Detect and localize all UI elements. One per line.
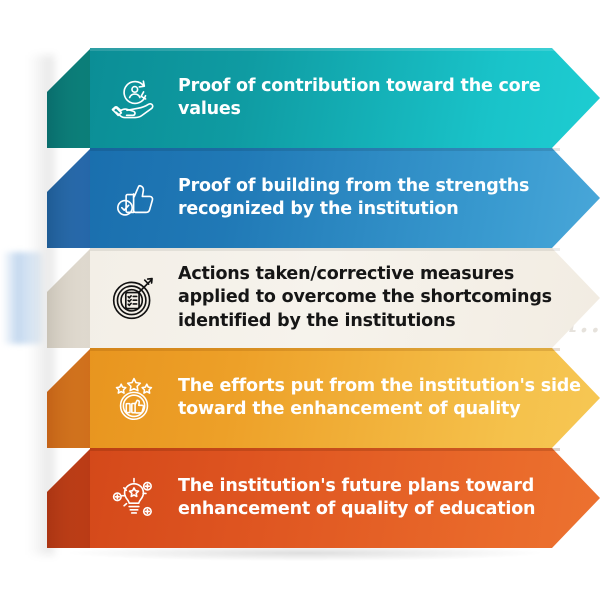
band-5-label: The institution's future plans toward en… — [178, 475, 600, 522]
band-2-label: Proof of building from the strengths rec… — [178, 175, 600, 222]
band-2-content: Proof of building from the strengths rec… — [90, 148, 600, 248]
thumbs-up-check-icon — [90, 148, 178, 248]
banner-band-1[interactable]: Proof of contribution toward the core va… — [47, 48, 600, 148]
band-3-label: Actions taken/corrective measures applie… — [178, 263, 600, 333]
band-1-content: Proof of contribution toward the core va… — [90, 48, 600, 148]
band-5-content: The institution's future plans toward en… — [90, 448, 600, 548]
band-1-3d-fold — [47, 48, 91, 148]
target-checklist-dart-icon — [90, 248, 178, 348]
thumbs-up-stars-medal-icon — [90, 348, 178, 448]
band-5-3d-fold — [47, 448, 91, 548]
banner-band-2[interactable]: Proof of building from the strengths rec… — [47, 148, 600, 248]
banner-band-3[interactable]: Actions taken/corrective measures applie… — [47, 248, 600, 348]
band-3-content: Actions taken/corrective measures applie… — [90, 248, 600, 348]
band-3-3d-fold — [47, 248, 91, 348]
band-4-3d-fold — [47, 348, 91, 448]
hand-holding-person-icon — [90, 48, 178, 148]
band-1-label: Proof of contribution toward the core va… — [178, 75, 600, 122]
lightbulb-star-idea-icon — [90, 448, 178, 548]
infographic-stage: MasterSoft accelerating education... — [0, 0, 600, 600]
band-2-3d-fold — [47, 148, 91, 248]
arrow-banner-stack: Proof of contribution toward the core va… — [0, 0, 600, 600]
band-4-content: The efforts put from the institution's s… — [90, 348, 600, 448]
banner-band-5[interactable]: The institution's future plans toward en… — [47, 448, 600, 548]
banner-band-4[interactable]: The efforts put from the institution's s… — [47, 348, 600, 448]
band-4-label: The efforts put from the institution's s… — [178, 375, 600, 422]
